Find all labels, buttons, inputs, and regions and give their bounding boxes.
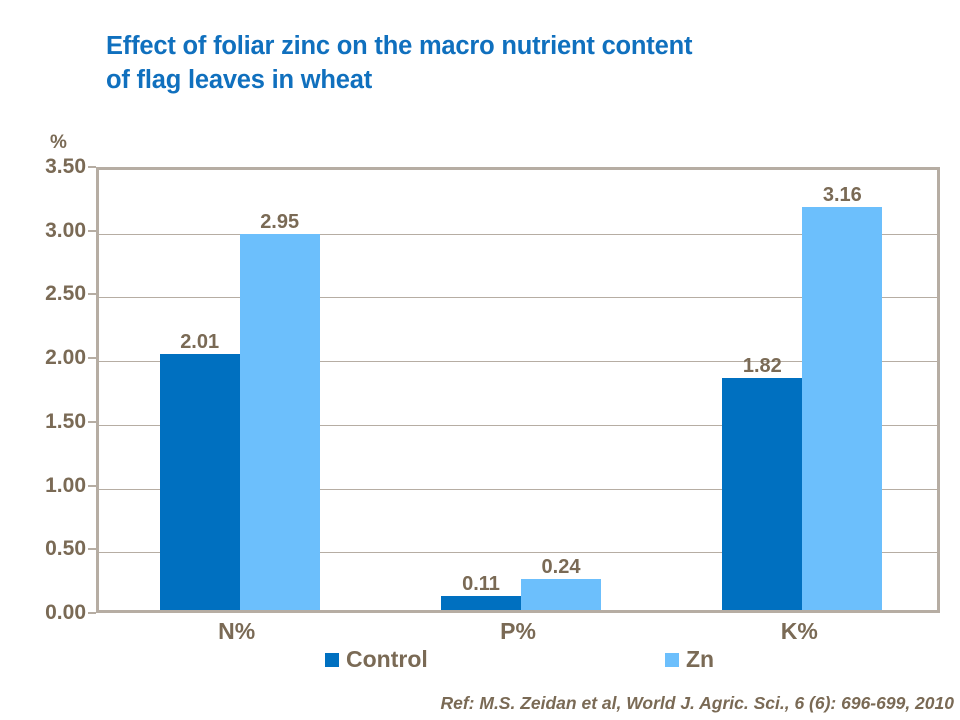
y-axis-tick	[88, 357, 96, 359]
legend-item-zn[interactable]: Zn	[665, 648, 714, 671]
y-axis-tick	[88, 293, 96, 295]
y-axis-tick	[88, 612, 96, 614]
bar-n-zn[interactable]	[240, 234, 320, 610]
y-axis-tick	[88, 230, 96, 232]
bar-value-label: 0.24	[542, 556, 581, 579]
y-axis-unit-label: %	[50, 132, 67, 154]
bar-value-label: 0.11	[462, 573, 500, 596]
bar-value-label: 3.16	[823, 184, 862, 207]
bar-k-zn[interactable]	[802, 207, 882, 610]
x-axis-label-k: K%	[781, 618, 818, 645]
bar-k-control[interactable]	[722, 378, 802, 610]
y-axis-tick	[88, 485, 96, 487]
legend-swatch-control-icon	[325, 653, 339, 667]
y-axis-tick	[88, 421, 96, 423]
y-axis-tick	[88, 166, 96, 168]
y-axis-tick	[88, 548, 96, 550]
bar-value-label: 2.95	[260, 211, 299, 234]
y-axis-tick-marks	[0, 167, 96, 613]
bar-value-label: 2.01	[180, 331, 219, 354]
reference-citation: Ref: M.S. Zeidan et al, World J. Agric. …	[440, 693, 954, 714]
x-axis-label-n: N%	[218, 618, 255, 645]
plot-area: 2.012.950.110.241.823.16	[96, 167, 940, 613]
slide-canvas: { "title": "Effect of foliar zinc on the…	[0, 0, 960, 720]
bar-n-control[interactable]	[160, 354, 240, 610]
x-axis-label-p: P%	[500, 618, 536, 645]
legend-label: Zn	[686, 648, 714, 671]
bar-p-zn[interactable]	[521, 579, 601, 610]
legend-swatch-zn-icon	[665, 653, 679, 667]
bar-p-control[interactable]	[441, 596, 521, 610]
chart-legend: ControlZn	[0, 648, 960, 678]
bar-value-label: 1.82	[743, 355, 782, 378]
chart-title: Effect of foliar zinc on the macro nutri…	[106, 30, 896, 97]
plot-inner: 2.012.950.110.241.823.16	[99, 170, 937, 610]
legend-label: Control	[346, 648, 428, 671]
legend-item-control[interactable]: Control	[325, 648, 428, 671]
